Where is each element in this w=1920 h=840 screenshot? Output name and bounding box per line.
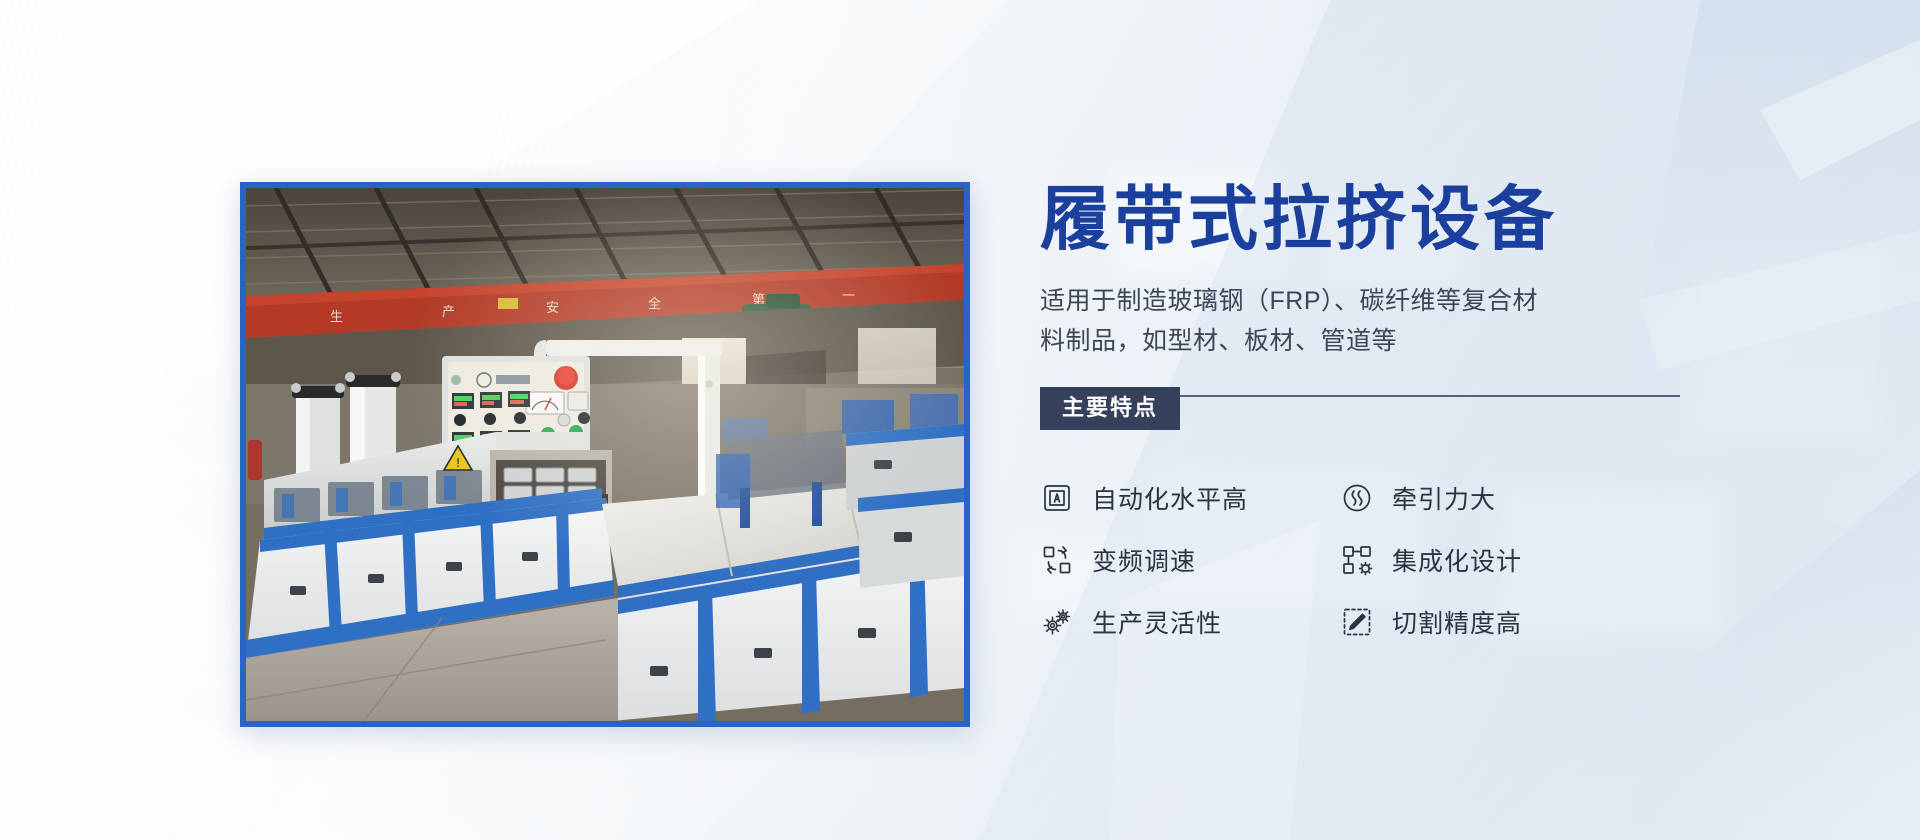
product-photo: 生 产 安 全 第 一 — [246, 188, 964, 721]
feature-item-flexibility: 生产灵活性 — [1040, 604, 1340, 640]
section-heading-row: 主要特点 — [1040, 387, 1680, 431]
dual-gears-icon — [1040, 605, 1074, 639]
cutting-precision-icon — [1340, 605, 1374, 639]
subtitle-line-1: 适用于制造玻璃钢（FRP）、碳纤维等复合材 — [1040, 287, 1538, 315]
page-title: 履带式拉挤设备 — [1040, 180, 1680, 258]
feature-item-automation: 自动化水平高 — [1040, 480, 1340, 516]
feature-label: 切割精度高 — [1392, 604, 1522, 640]
banner-content: 履带式拉挤设备 适用于制造玻璃钢（FRP）、碳纤维等复合材 料制品，如型材、板材… — [1040, 180, 1680, 653]
subtitle-line-2: 料制品，如型材、板材、管道等 — [1040, 327, 1397, 355]
banner-subtitle: 适用于制造玻璃钢（FRP）、碳纤维等复合材 料制品，如型材、板材、管道等 — [1040, 282, 1640, 361]
frequency-convert-icon — [1040, 543, 1074, 577]
traction-force-icon — [1340, 481, 1374, 515]
feature-item-integrated: 集成化设计 — [1340, 542, 1640, 578]
feature-label: 生产灵活性 — [1092, 604, 1222, 640]
feature-label: 变频调速 — [1092, 542, 1196, 578]
feature-item-traction: 牵引力大 — [1340, 480, 1640, 516]
feature-list: 自动化水平高 牵引力大 — [1040, 467, 1680, 653]
product-photo-card: 生 产 安 全 第 一 — [240, 182, 970, 727]
feature-label: 集成化设计 — [1392, 542, 1522, 578]
feature-label: 自动化水平高 — [1092, 480, 1248, 516]
status-badge: 主要特点 — [1040, 387, 1180, 429]
automation-panel-icon — [1040, 481, 1074, 515]
feature-item-frequency: 变频调速 — [1040, 542, 1340, 578]
feature-item-cutting: 切割精度高 — [1340, 604, 1640, 640]
integrated-design-icon — [1340, 543, 1374, 577]
feature-label: 牵引力大 — [1392, 480, 1496, 516]
product-banner: 生 产 安 全 第 一 — [0, 0, 1920, 840]
